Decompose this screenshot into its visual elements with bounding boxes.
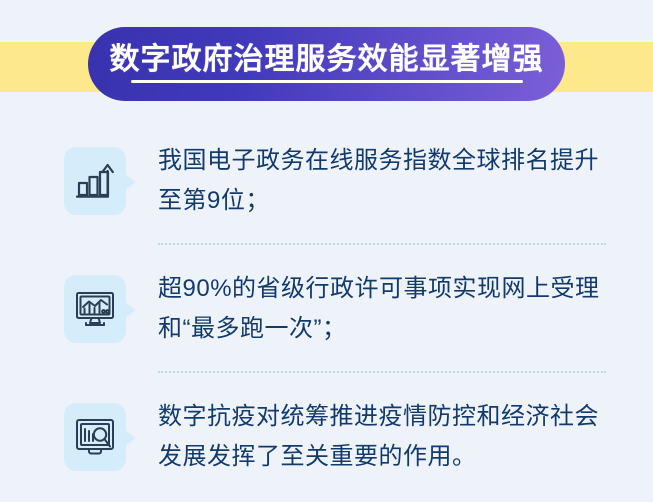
icon-wrap — [64, 275, 132, 343]
icon-tail — [125, 174, 136, 190]
list-item: 数字抗疫对统筹推进疫情防控和经济社会发展发挥了至关重要的作用。 — [0, 389, 653, 499]
list-item: 我国电子政务在线服务指数全球排名提升至第9位； — [0, 133, 653, 243]
spacer — [0, 375, 653, 389]
icon-wrap — [64, 403, 132, 471]
header-banner: 数字政府治理服务效能显著增强 — [0, 0, 653, 130]
list-item-label: 我国电子政务在线服务指数全球排名提升至第9位； — [158, 141, 608, 221]
bar-chart-growth-icon — [64, 147, 126, 215]
list-item-label: 数字抗疫对统筹推进疫情防控和经济社会发展发挥了至关重要的作用。 — [158, 397, 608, 477]
monitor-magnifier-icon — [64, 403, 126, 471]
title-pill: 数字政府治理服务效能显著增强 — [88, 27, 565, 101]
bullet-list: 我国电子政务在线服务指数全球排名提升至第9位； — [0, 133, 653, 499]
list-item: 超90%的省级行政许可事项实现网上受理和“最多跑一次”； — [0, 261, 653, 371]
icon-tail — [125, 302, 136, 318]
icon-wrap — [64, 147, 132, 215]
monitor-line-chart-icon — [64, 275, 126, 343]
title-underline — [131, 80, 523, 83]
spacer — [0, 247, 653, 261]
icon-tail — [125, 430, 136, 446]
page-title: 数字政府治理服务效能显著增强 — [106, 45, 548, 75]
list-item-label: 超90%的省级行政许可事项实现网上受理和“最多跑一次”； — [158, 269, 608, 349]
